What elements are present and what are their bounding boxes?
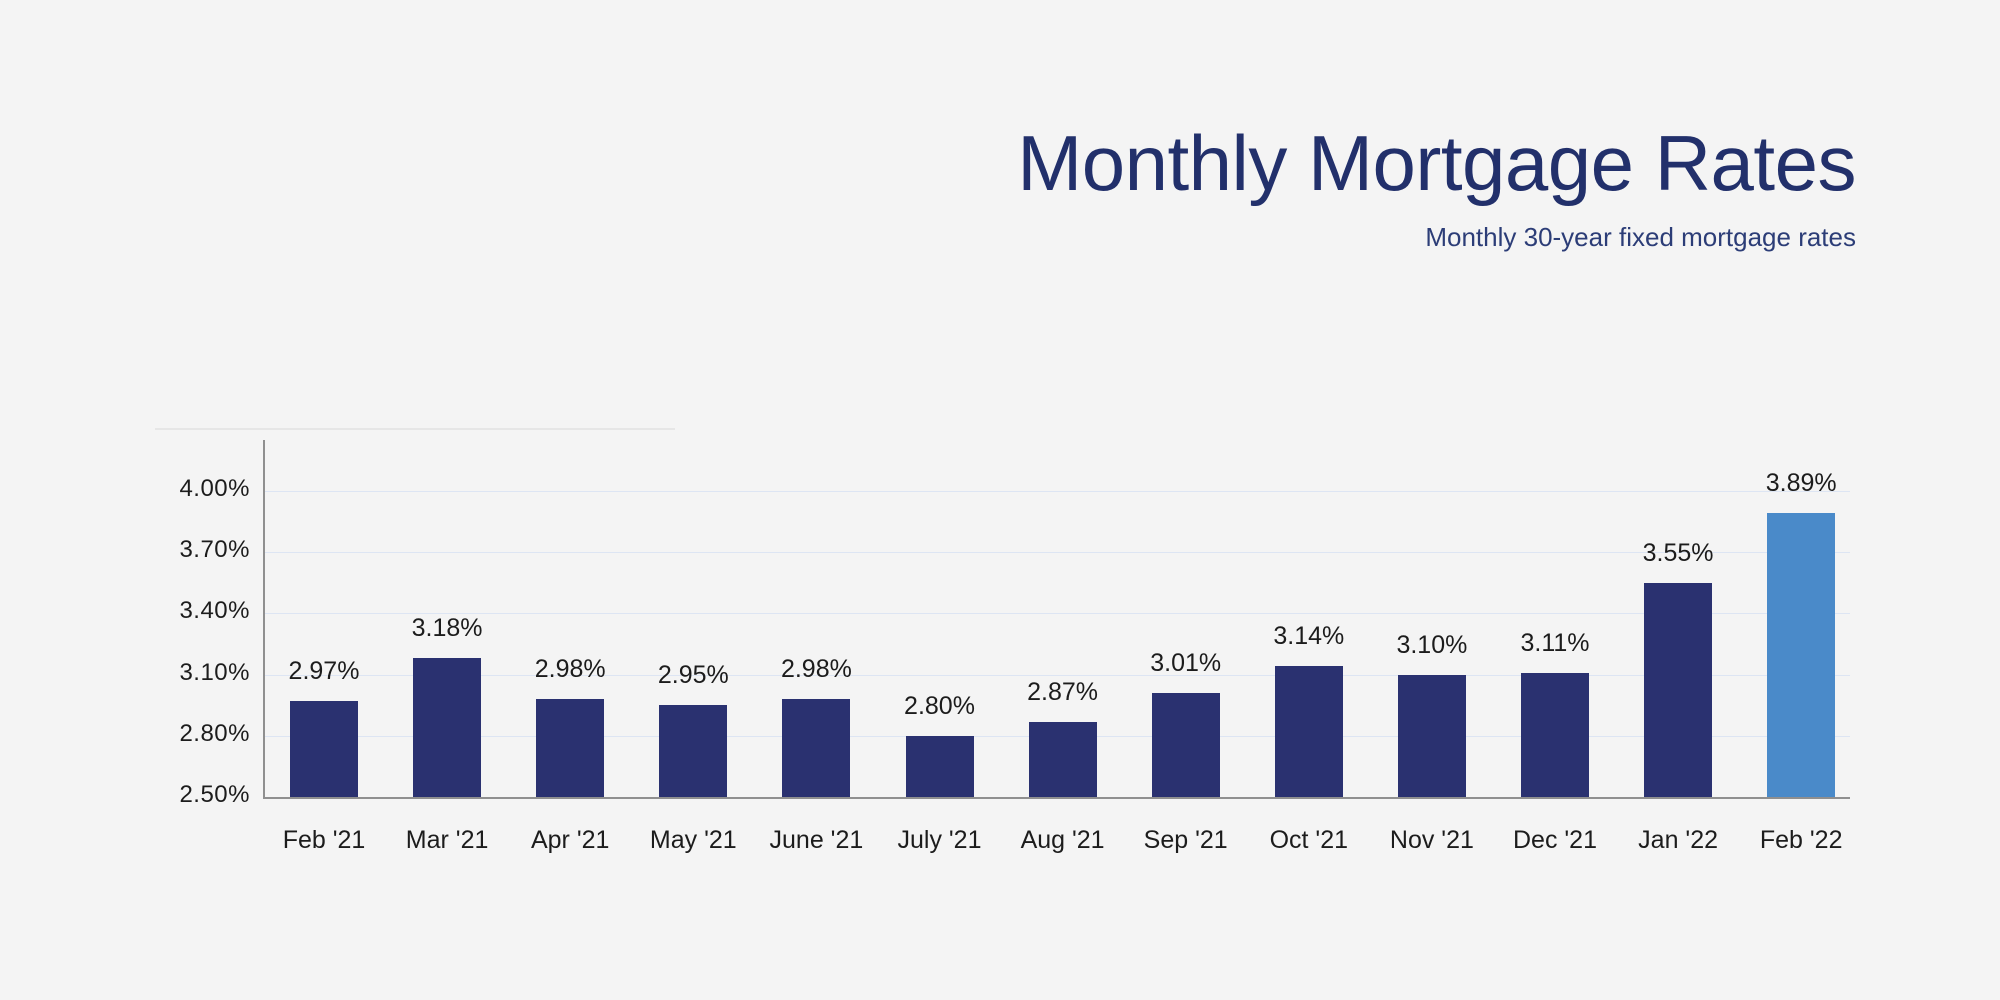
bar[interactable] [290,701,358,797]
bar[interactable] [1275,666,1343,797]
bar[interactable] [413,658,481,797]
bar-value-label: 3.01% [1106,649,1266,678]
bar-value-label: 3.11% [1475,629,1635,658]
bar[interactable] [1644,583,1712,797]
bar-value-label: 3.55% [1598,539,1758,568]
x-axis-tick-label: Feb '22 [1711,826,1891,855]
bar-value-label: 3.18% [367,614,527,643]
bar[interactable] [659,705,727,797]
bar-chart: 4.00%3.70%3.40%3.10%2.80%2.50% 2.97%3.18… [0,0,2000,1000]
bar-value-label: 2.97% [244,657,404,686]
chart-page: Monthly Mortgage Rates Monthly 30-year f… [0,0,2000,1000]
bar[interactable] [782,699,850,797]
bar[interactable] [1029,722,1097,797]
bar[interactable] [1767,513,1835,797]
bar-value-label: 2.87% [983,678,1143,707]
bar-value-label: 2.98% [736,655,896,684]
bar-value-label: 3.89% [1721,469,1881,498]
bar[interactable] [1521,673,1589,797]
bar[interactable] [1398,675,1466,797]
bar[interactable] [1152,693,1220,797]
bar[interactable] [906,736,974,797]
bar[interactable] [536,699,604,797]
